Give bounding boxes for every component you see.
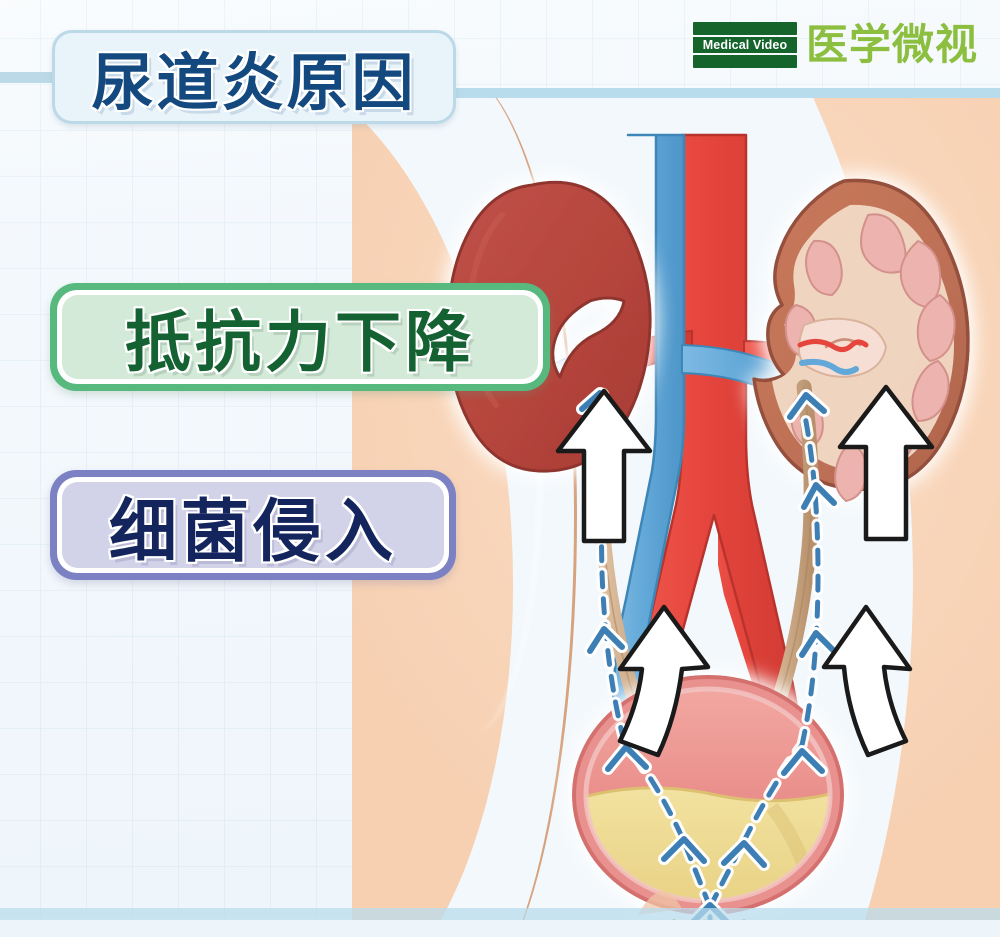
label-fill: 抵抗力下降 [62,295,538,379]
label-inner-ring: 抵抗力下降 [57,290,543,384]
page-title: 尿道炎原因 [52,30,456,124]
label-bacterial-invasion[interactable]: 细菌侵入 [50,470,456,580]
bottom-band [0,908,1000,920]
logo-chinese-text: 医学微视 [806,24,978,66]
page-title-text: 尿道炎原因 [91,32,416,122]
logo-latin-text: Medical Video [703,38,787,52]
bottom-strip [0,920,1000,937]
logo-mark: Medical Video [693,22,797,68]
logo-bar-bottom [693,55,797,68]
arrow-right-bladder [824,607,910,755]
label-inner-ring: 细菌侵入 [57,477,449,573]
label-fill: 细菌侵入 [62,482,444,568]
label-resistance-decline[interactable]: 抵抗力下降 [50,283,550,391]
label-resistance-decline-text: 抵抗力下降 [125,289,475,385]
right-kidney [754,180,968,501]
logo-bar-top [693,22,797,35]
label-bacterial-invasion-text: 细菌侵入 [109,476,397,575]
infographic-canvas: 尿道炎原因 抵抗力下降 细菌侵入 Medical Video 医学微视 [0,0,1000,937]
brand-logo: Medical Video 医学微视 [693,22,978,68]
logo-latin-band: Medical Video [693,37,797,53]
